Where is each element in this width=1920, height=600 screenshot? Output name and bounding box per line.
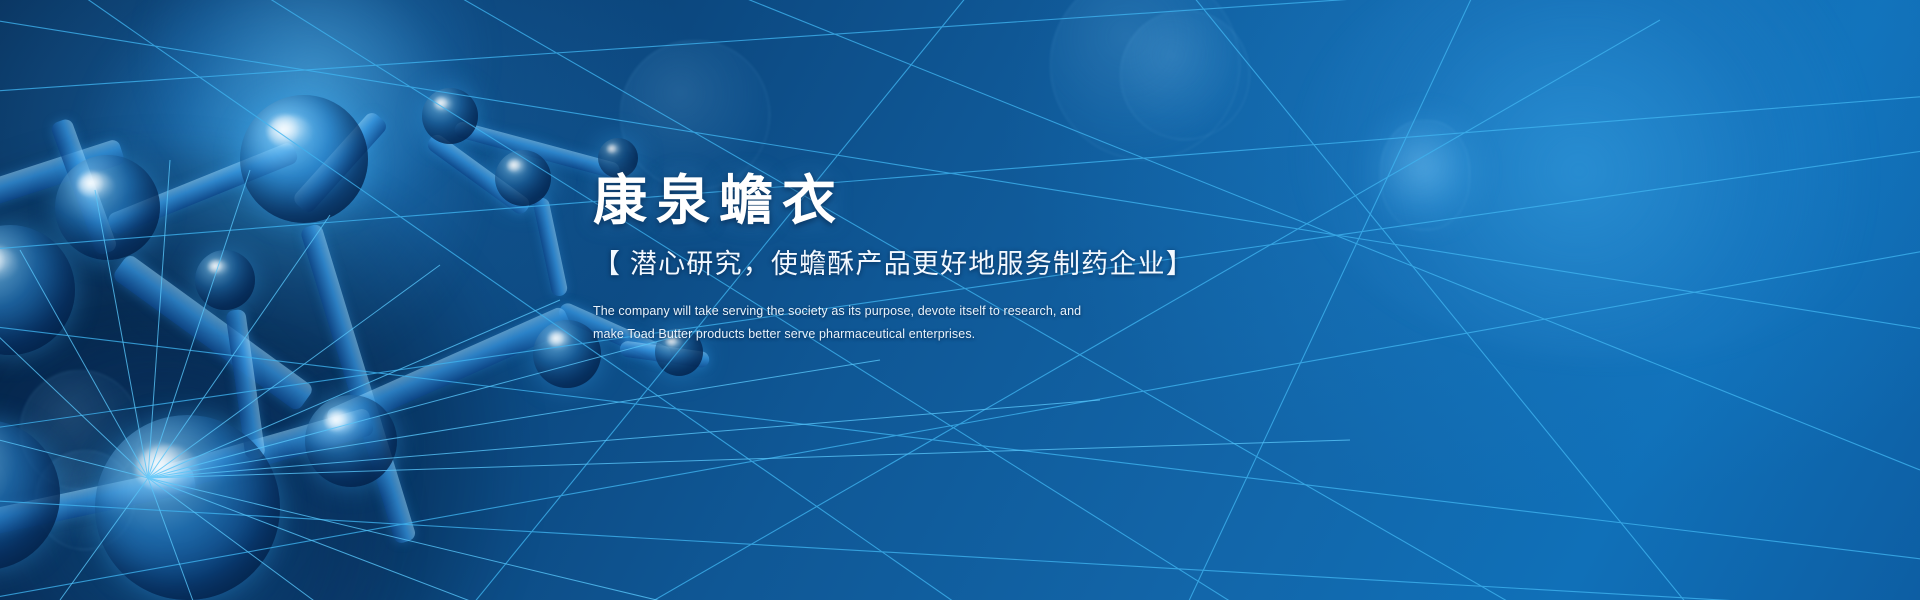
page-subtitle: 【 潜心研究，使蟾酥产品更好地服务制药企业】 bbox=[593, 245, 1493, 283]
description-line-2: make Toad Butter products better serve p… bbox=[593, 323, 1493, 346]
page-title: 康泉蟾衣 bbox=[593, 170, 1493, 232]
hero-text-block: 康泉蟾衣 【 潜心研究，使蟾酥产品更好地服务制药企业】 The company … bbox=[593, 170, 1493, 346]
hero-banner: 康泉蟾衣 【 潜心研究，使蟾酥产品更好地服务制药企业】 The company … bbox=[0, 0, 1920, 600]
description-line-1: The company will take serving the societ… bbox=[593, 300, 1493, 323]
page-description: The company will take serving the societ… bbox=[593, 300, 1493, 346]
